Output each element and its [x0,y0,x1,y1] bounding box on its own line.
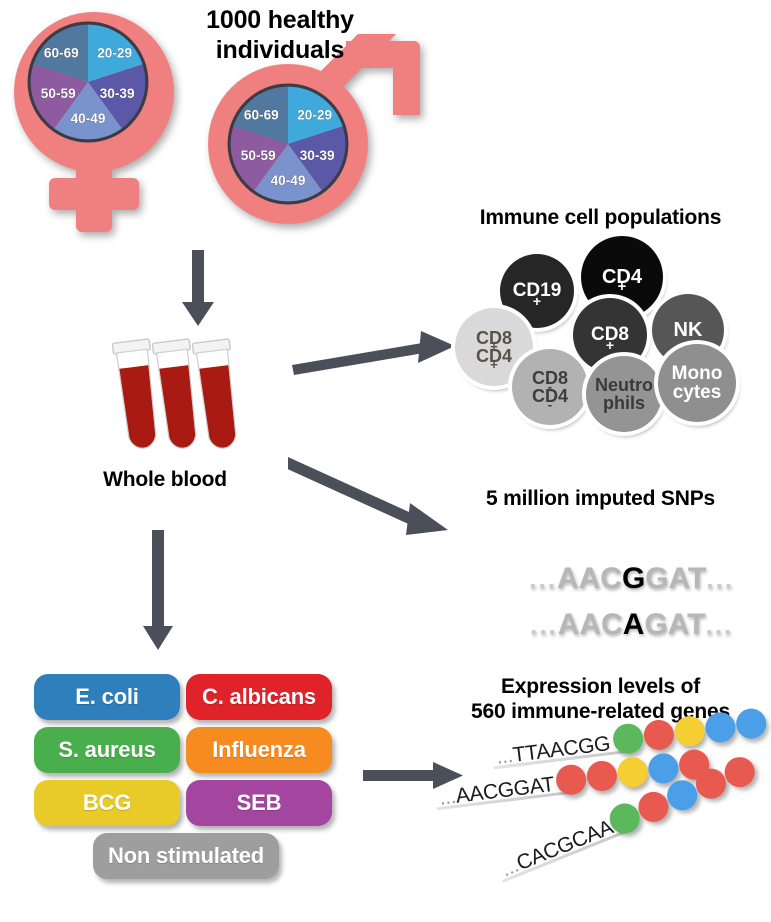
immune-cell-label: CD8+CD4+ [476,329,512,366]
pie-label-20-29: 20-29 [97,46,132,61]
pie-label-50-59: 50-59 [41,86,76,101]
strand-bases: AACGGAT [454,773,555,808]
pie-label-30-39: 30-39 [100,86,135,101]
blood-tube [112,339,162,450]
snp-prefix: AAC [558,608,623,641]
expression-bead [642,718,675,751]
stimulus-influenza[interactable]: Influenza [186,727,332,773]
pie-label-50-59: 50-59 [241,148,276,163]
immune-cell-label: CD8-CD4- [532,369,568,406]
snp-dots-left: ... [530,610,558,640]
stimulus-c-albicans[interactable]: C. albicans [186,674,332,720]
stimulus-label: BCG [83,790,131,816]
expression-bead [585,759,618,792]
stimulus-label: S. aureus [58,737,155,763]
page-title-cohort: 1000 healthy individuals [160,6,400,65]
stimulus-non-stimulated[interactable]: Non stimulated [93,833,279,879]
immune-cell-mononegcytes: Monocytes [658,344,736,422]
pie-label-40-49: 40-49 [71,111,106,126]
immune-cell-cluster: CD19+CD4+NKCD8+CD8+CD4+CD8-CD4-Neutrophi… [455,236,771,426]
snp-suffix: GAT [644,608,705,641]
pie-label-20-29: 20-29 [297,108,332,123]
arrow-blood-to-stimuli [138,530,178,652]
label-whole-blood: Whole blood [60,468,270,493]
expression-bead [673,714,706,747]
arrow-cohort-to-blood [178,250,218,328]
blood-tube [192,339,242,450]
section-title-immune-cells: Immune cell populations [430,206,771,231]
snp-allele: A [623,608,645,641]
arrow-blood-to-snps [288,455,453,545]
immune-cell-neutronegphils: Neutrophils [586,356,662,432]
pie-label-30-39: 30-39 [300,148,335,163]
immune-cell-label: CD8+ [591,325,629,344]
stimulus-e-coli[interactable]: E. coli [34,674,180,720]
snp-sequence-row: ...AACAGAT... [470,574,760,676]
immune-cell-label: Monocytes [672,364,723,403]
pie-label-60-69: 60-69 [44,46,79,61]
expression-strands: ...TTAACGG...AACGGAT...CACGCAA [430,720,771,920]
stimuli-panel: E. coliC. albicansS. aureusInfluenzaBCGS… [34,674,344,904]
immune-cell-cd8negnegcd4neg: CD8-CD4- [512,349,588,425]
stimulus-label: Influenza [212,737,306,763]
snp-sequence-block: ...AACGGAT... ...AACAGAT... [470,528,760,618]
strand-sequence: ...CACGCAA [498,816,617,883]
snp-dots-right: ... [706,610,734,640]
stimulus-label: SEB [237,790,282,816]
age-pie-female: 20-29 30-39 40-49 50-59 60-69 [26,20,150,144]
immune-cell-label: NK [674,320,703,340]
pie-label-60-69: 60-69 [244,108,279,123]
age-pie-male: 20-29 30-39 40-49 50-59 60-69 [226,82,350,206]
stimulus-label: E. coli [75,684,138,710]
blood-tube [152,339,202,450]
immune-cell-label: CD4+ [602,267,642,287]
strand-bases: CACGCAA [513,816,616,875]
expression-bead [647,752,680,785]
arrow-blood-to-immune [290,325,455,375]
stimulus-s-aureus[interactable]: S. aureus [34,727,180,773]
pie-label-40-49: 40-49 [271,173,306,188]
stimulus-label: Non stimulated [108,843,264,869]
strand-sequence: ...AACGGAT [438,773,556,811]
stimulus-bcg[interactable]: BCG [34,780,180,826]
blood-tubes-icon [106,335,256,475]
stimulus-label: C. albicans [202,684,316,710]
stimulus-seb[interactable]: SEB [186,780,332,826]
section-title-snps: 5 million imputed SNPs [430,487,771,512]
immune-cell-label: CD19+ [513,281,562,300]
expression-bead [616,755,649,788]
immune-cell-label: Neutrophils [595,376,653,413]
